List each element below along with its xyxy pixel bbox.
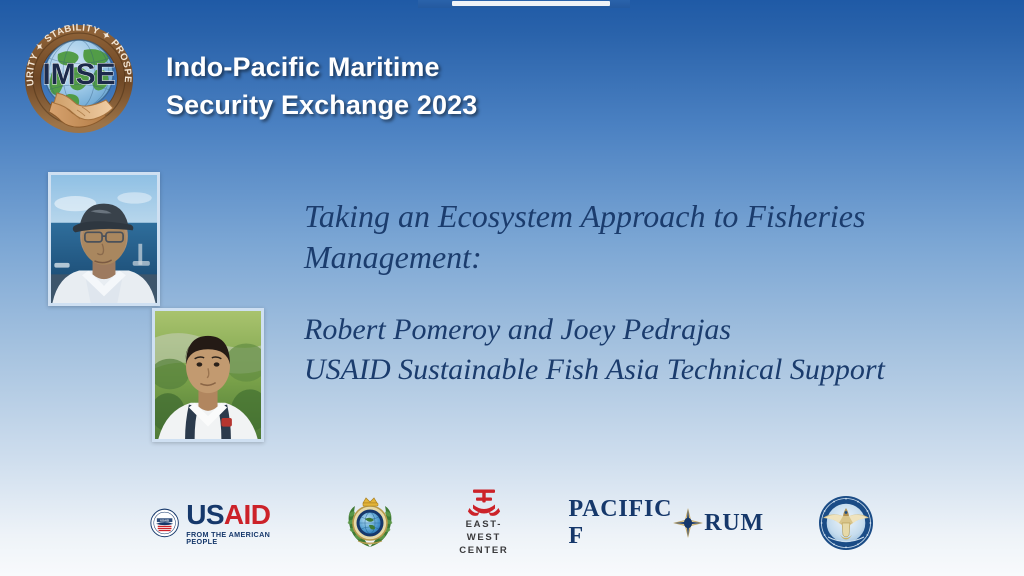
philippine-navy-seal-logo [341, 491, 399, 555]
usaid-word-us: US [186, 499, 224, 530]
imse-seal-icon: SECURITY ✦ STABILITY ✦ PROSPERITY IMSE [14, 14, 144, 144]
presentation-slide: SECURITY ✦ STABILITY ✦ PROSPERITY IMSE [0, 0, 1024, 576]
photo-robert-pomeroy [48, 172, 160, 306]
talk-title-line-1: Taking an Ecosystem Approach to Fisherie… [304, 198, 865, 234]
east-west-center-logo: EAST-WEST CENTER [453, 491, 514, 555]
video-scrubber-fill[interactable] [452, 1, 610, 6]
east-west-center-glyph-icon [467, 488, 501, 516]
usaid-logo: USAID USAID FROM THE AMERICAN PEOPLE [150, 491, 287, 555]
talk-title-line-2: Management: [304, 239, 482, 275]
presenter-affiliation: USAID Sustainable Fish Asia Technical Su… [304, 350, 1004, 390]
page-title-line-2: Security Exchange 2023 [166, 86, 477, 124]
pacific-forum-text-before: PACIFIC F [568, 496, 672, 550]
svg-text:USAID: USAID [160, 518, 169, 522]
photo-joey-pedrajas [152, 308, 264, 442]
sponsor-logo-strip: USAID USAID FROM THE AMERICAN PEOPLE [0, 484, 1024, 562]
imse-wordmark: IMSE [42, 58, 115, 91]
usaid-word-aid: AID [224, 499, 270, 530]
presenter-names: Robert Pomeroy and Joey Pedrajas [304, 310, 1004, 350]
usaid-seal-icon: USAID [150, 506, 179, 540]
slide-body: Taking an Ecosystem Approach to Fisherie… [304, 196, 1004, 390]
east-west-center-line-2: CENTER [453, 545, 514, 558]
pacific-forum-logo: PACIFIC F RUM [568, 491, 764, 555]
usaid-tagline: FROM THE AMERICAN PEOPLE [186, 531, 287, 545]
page-title: Indo-Pacific Maritime Security Exchange … [166, 34, 477, 125]
talk-title: Taking an Ecosystem Approach to Fisherie… [304, 196, 1004, 278]
department-of-defense-seal-logo [818, 491, 874, 555]
dod-seal-icon [818, 495, 874, 551]
page-title-line-1: Indo-Pacific Maritime [166, 48, 477, 86]
pacific-forum-text-after: RUM [704, 510, 764, 537]
east-west-center-line-1: EAST-WEST [453, 519, 514, 545]
slide-header: SECURITY ✦ STABILITY ✦ PROSPERITY IMSE [14, 14, 477, 144]
philippine-navy-seal-icon [341, 494, 399, 552]
presenter-block: Robert Pomeroy and Joey Pedrajas USAID S… [304, 310, 1004, 390]
compass-star-icon [673, 508, 703, 538]
